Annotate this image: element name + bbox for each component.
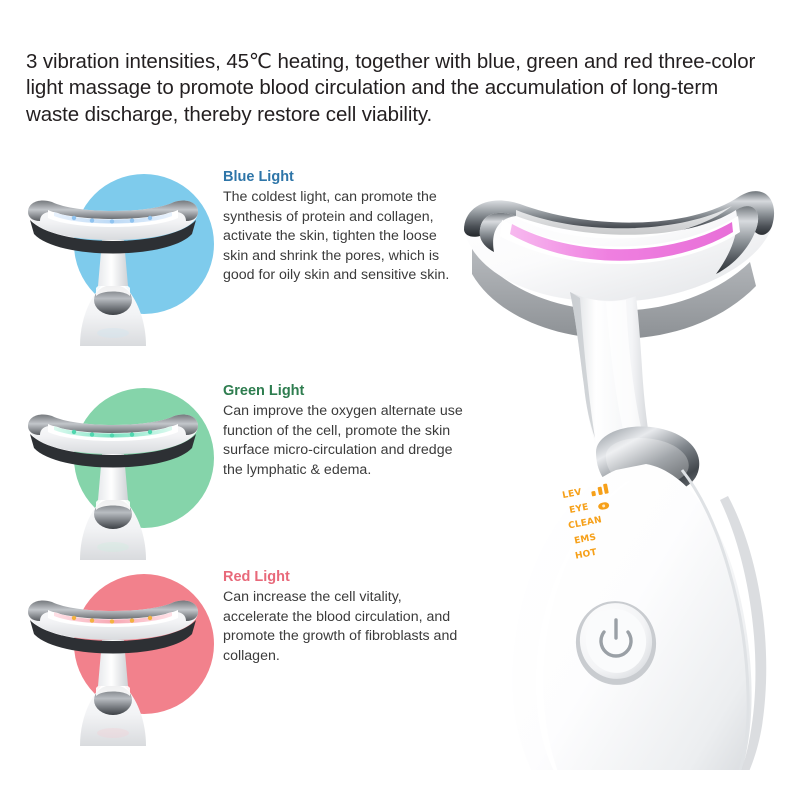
mini-device-blue [18, 168, 208, 350]
red-light-illustration [18, 568, 208, 750]
mini-device-red [18, 568, 208, 750]
blue-light-illustration [18, 168, 208, 350]
product-infographic: 3 vibration intensities, 45℃ heating, to… [0, 0, 800, 800]
main-device-illustration: LEV EYE CLEAN EMS HOT [420, 170, 800, 770]
eye-icon [597, 501, 609, 510]
main-device-svg [420, 170, 800, 770]
panel-label-lev: LEV [562, 487, 583, 501]
mini-device-green [18, 382, 208, 564]
level-bars-icon [590, 483, 609, 496]
green-light-illustration [18, 382, 208, 564]
headline-paragraph: 3 vibration intensities, 45℃ heating, to… [26, 49, 766, 129]
panel-label-eye: EYE [568, 502, 589, 516]
